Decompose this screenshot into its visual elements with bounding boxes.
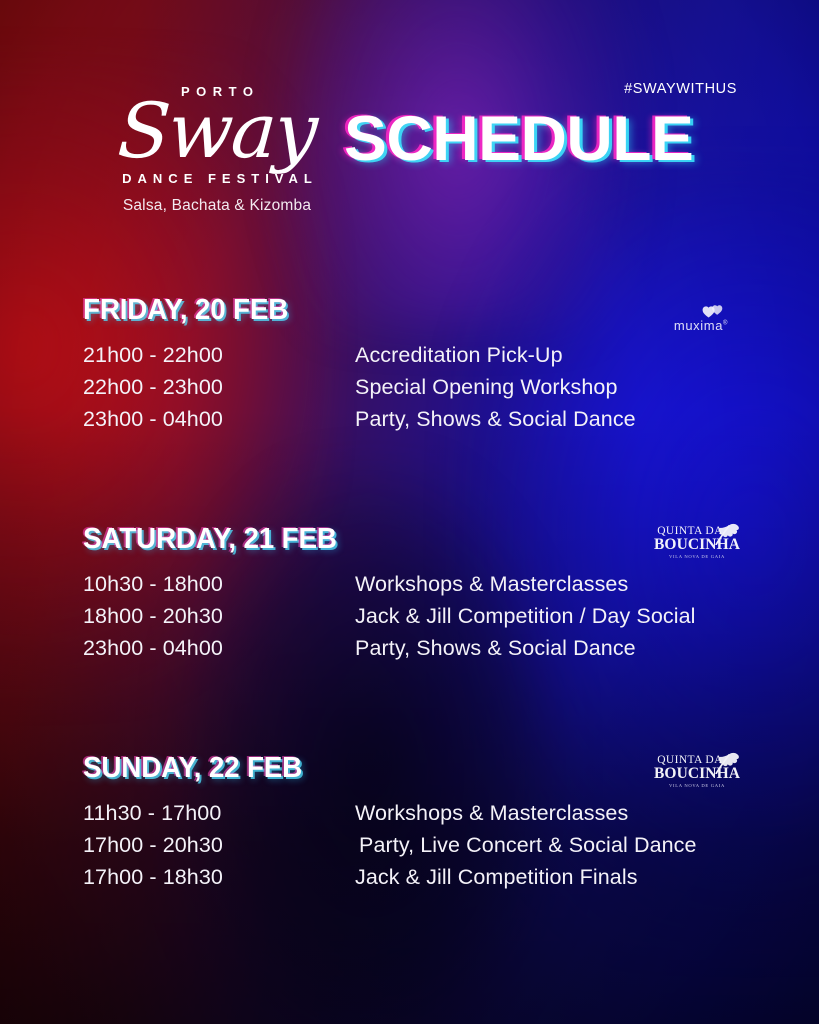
schedule-rows-saturday: 10h30 - 18h00 Workshops & Masterclasses … xyxy=(83,572,743,668)
schedule-row: 18h00 - 20h30 Jack & Jill Competition / … xyxy=(83,604,743,636)
row-time: 17h00 - 18h30 xyxy=(83,865,355,890)
sponsor-logo-boucinha: QUINTA DA BOUCINHA VILA NOVA DE GAIA xyxy=(653,525,741,560)
schedule-row: 22h00 - 23h00 Special Opening Workshop xyxy=(83,375,743,407)
sponsor-line-3: VILA NOVA DE GAIA xyxy=(653,554,741,560)
row-event: Workshops & Masterclasses xyxy=(355,801,743,826)
page-title: SCHEDULE xyxy=(344,108,693,171)
sponsor-name: muxima® xyxy=(665,319,737,332)
schedule-rows-sunday: 11h30 - 17h00 Workshops & Masterclasses … xyxy=(83,801,743,897)
row-event: Party, Live Concert & Social Dance xyxy=(355,833,743,858)
row-time: 22h00 - 23h00 xyxy=(83,375,355,400)
logo-sway-script: Sway xyxy=(79,93,354,169)
row-event: Party, Shows & Social Dance xyxy=(355,407,743,432)
row-event: Party, Shows & Social Dance xyxy=(355,636,743,661)
row-event: Accreditation Pick-Up xyxy=(355,343,743,368)
schedule-row: 23h00 - 04h00 Party, Shows & Social Danc… xyxy=(83,636,743,668)
schedule-row: 11h30 - 17h00 Workshops & Masterclasses xyxy=(83,801,743,833)
hashtag: #SWAYWITHUS xyxy=(624,81,737,97)
row-event: Special Opening Workshop xyxy=(355,375,743,400)
row-event: Workshops & Masterclasses xyxy=(355,572,743,597)
schedule-row: 21h00 - 22h00 Accreditation Pick-Up xyxy=(83,343,743,375)
day-heading: FRIDAY, 20 FEB xyxy=(83,296,288,325)
schedule-poster: PORTO Sway DANCE FESTIVAL Salsa, Bachata… xyxy=(0,0,819,1024)
schedule-row: 10h30 - 18h00 Workshops & Masterclasses xyxy=(83,572,743,604)
hearts-icon xyxy=(665,303,737,318)
sponsor-logo-muxima: muxima® xyxy=(665,303,737,332)
row-time: 10h30 - 18h00 xyxy=(83,572,355,597)
festival-logo: PORTO Sway DANCE FESTIVAL Salsa, Bachata… xyxy=(82,84,352,215)
row-time: 18h00 - 20h30 xyxy=(83,604,355,629)
schedule-row: 23h00 - 04h00 Party, Shows & Social Danc… xyxy=(83,407,743,439)
row-event: Jack & Jill Competition / Day Social xyxy=(355,604,743,629)
logo-dance-styles: Salsa, Bachata & Kizomba xyxy=(82,197,352,215)
row-event: Jack & Jill Competition Finals xyxy=(355,865,743,890)
sponsor-logo-boucinha: QUINTA DA BOUCINHA VILA NOVA DE GAIA xyxy=(653,754,741,789)
day-heading: SATURDAY, 21 FEB xyxy=(83,525,337,554)
sponsor-line-3: VILA NOVA DE GAIA xyxy=(653,783,741,789)
row-time: 21h00 - 22h00 xyxy=(83,343,355,368)
schedule-row: 17h00 - 20h30 Party, Live Concert & Soci… xyxy=(83,833,743,865)
schedule-rows-friday: 21h00 - 22h00 Accreditation Pick-Up 22h0… xyxy=(83,343,743,439)
row-time: 23h00 - 04h00 xyxy=(83,636,355,661)
schedule-row: 17h00 - 18h30 Jack & Jill Competition Fi… xyxy=(83,865,743,897)
row-time: 23h00 - 04h00 xyxy=(83,407,355,432)
row-time: 17h00 - 20h30 xyxy=(83,833,355,858)
row-time: 11h30 - 17h00 xyxy=(83,801,355,826)
day-heading: SUNDAY, 22 FEB xyxy=(83,754,302,783)
